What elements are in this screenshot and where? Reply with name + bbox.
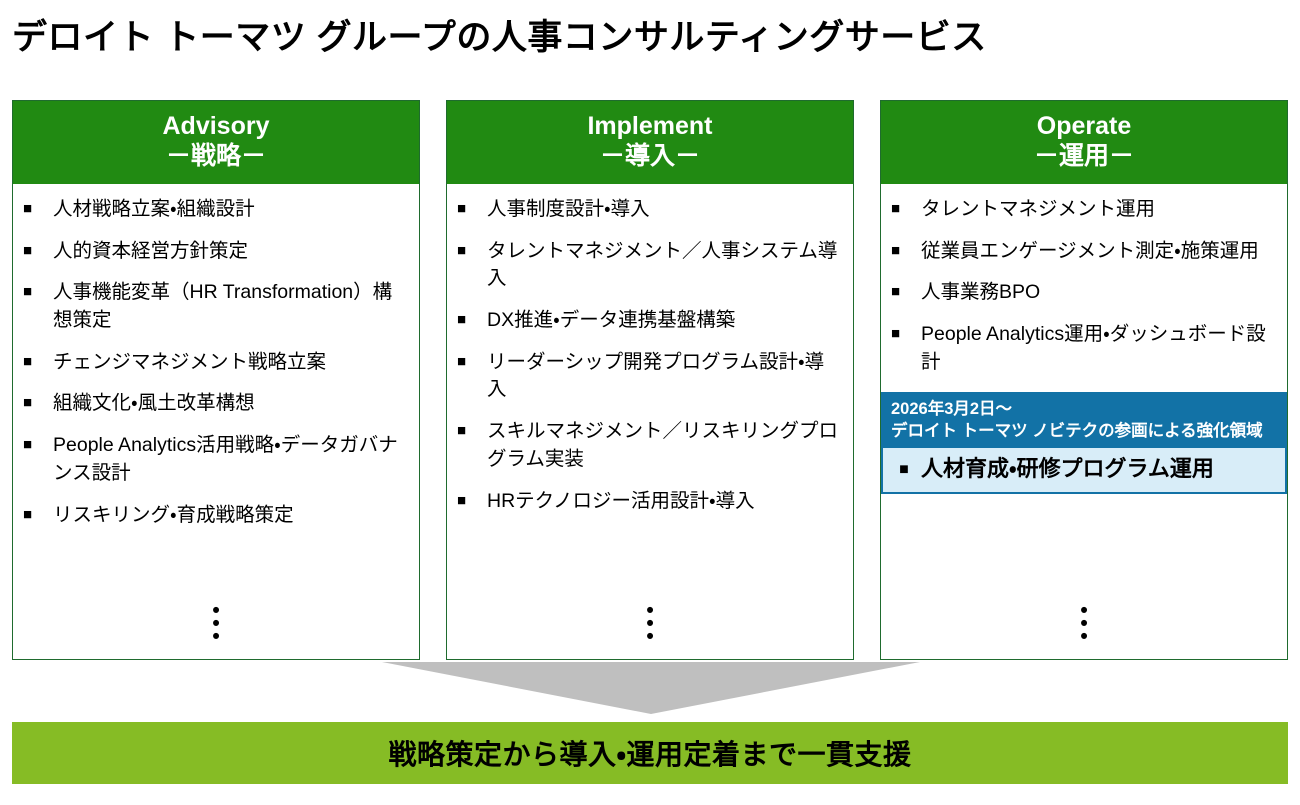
bullet-square-icon: ■ — [457, 238, 487, 264]
list-item: ■ People Analytics運用・ダッシュボード設計 — [891, 321, 1277, 376]
page-title: デロイト トーマツ グループの人事コンサルティングサービス — [12, 16, 1282, 60]
list-item: ■ 人事業務BPO — [891, 279, 1277, 307]
column-header-operate: Operate －運用－ — [881, 101, 1287, 184]
bullet-square-icon: ■ — [891, 279, 921, 305]
list-item-label: 人的資本経営方針策定 — [53, 238, 409, 266]
bullet-square-icon: ■ — [457, 349, 487, 375]
list-item: ■ DX推進・データ連携基盤構築 — [457, 307, 843, 335]
column-header-en: Advisory — [17, 112, 415, 142]
list-item-label: 人事制度設計・導入 — [487, 196, 843, 224]
list-item-label: People Analytics活用戦略・データガバナンス設計 — [53, 432, 409, 487]
list-item: ■ スキルマネジメント／リスキリングプログラム実装 — [457, 418, 843, 473]
column-advisory: Advisory －戦略－ ■ 人材戦略立案・組織設計 ■ 人的資本経営方針策定… — [12, 100, 420, 660]
list-item-label: 人事業務BPO — [921, 279, 1277, 307]
callout-item-label: 人材育成・研修プログラム運用 — [921, 455, 1214, 484]
down-arrow-icon — [382, 662, 920, 714]
column-header-ja: －戦略－ — [17, 142, 415, 172]
bullet-square-icon: ■ — [891, 238, 921, 264]
column-body-implement: ■ 人事制度設計・導入 ■ タレントマネジメント／人事システム導入 ■ DX推進… — [447, 184, 853, 659]
bullet-square-icon: ■ — [457, 488, 487, 514]
column-operate: Operate －運用－ ■ タレントマネジメント運用 ■ 従業員エンゲージメン… — [880, 100, 1288, 660]
bullet-square-icon: ■ — [23, 238, 53, 264]
column-header-ja: －運用－ — [885, 142, 1283, 172]
callout-body: ■ 人材育成・研修プログラム運用 — [883, 448, 1285, 492]
list-item: ■ タレントマネジメント／人事システム導入 — [457, 238, 843, 293]
column-header-en: Implement — [451, 112, 849, 142]
column-body-operate: ■ タレントマネジメント運用 ■ 従業員エンゲージメント測定・施策運用 ■ 人事… — [881, 184, 1287, 659]
callout-subtitle: デロイト トーマツ ノビテクの参画による強化領域 — [891, 421, 1277, 442]
bullet-square-icon: ■ — [23, 196, 53, 222]
callout-date: 2026年3月2日～ — [891, 399, 1277, 420]
bullet-square-icon: ■ — [891, 196, 921, 222]
list-item-label: 人事機能変革（HR Transformation）構想策定 — [53, 279, 409, 334]
list-item: ■ 人事機能変革（HR Transformation）構想策定 — [23, 279, 409, 334]
bullet-square-icon: ■ — [457, 307, 487, 333]
list-item-label: HRテクノロジー活用設計・導入 — [487, 488, 843, 516]
list-item-label: リーダーシップ開発プログラム設計・導入 — [487, 349, 843, 404]
list-item: ■ 人的資本経営方針策定 — [23, 238, 409, 266]
list-item: ■ リスキリング・育成戦略策定 — [23, 502, 409, 530]
vertical-ellipsis-icon: • • • — [23, 604, 409, 659]
column-header-implement: Implement －導入－ — [447, 101, 853, 184]
bullet-square-icon: ■ — [23, 390, 53, 416]
list-item-label: 従業員エンゲージメント測定・施策運用 — [921, 238, 1277, 266]
bullet-square-icon: ■ — [23, 349, 53, 375]
column-header-en: Operate — [885, 112, 1283, 142]
list-item: ■ リーダーシップ開発プログラム設計・導入 — [457, 349, 843, 404]
list-item-label: People Analytics運用・ダッシュボード設計 — [921, 321, 1277, 376]
footer-banner-label: 戦略策定から導入・運用定着まで一貫支援 — [388, 733, 911, 773]
highlight-callout: 2026年3月2日～ デロイト トーマツ ノビテクの参画による強化領域 ■ 人材… — [881, 392, 1287, 493]
bullet-square-icon: ■ — [891, 321, 921, 347]
column-header-advisory: Advisory －戦略－ — [13, 101, 419, 184]
list-item-label: チェンジマネジメント戦略立案 — [53, 349, 409, 377]
list-item: ■ 人事制度設計・導入 — [457, 196, 843, 224]
footer-banner: 戦略策定から導入・運用定着まで一貫支援 — [12, 722, 1288, 784]
list-item: ■ 組織文化・風土改革構想 — [23, 390, 409, 418]
list-item-label: スキルマネジメント／リスキリングプログラム実装 — [487, 418, 843, 473]
column-implement: Implement －導入－ ■ 人事制度設計・導入 ■ タレントマネジメント／… — [446, 100, 854, 660]
list-item-label: 組織文化・風土改革構想 — [53, 390, 409, 418]
list-item: ■ 人材戦略立案・組織設計 — [23, 196, 409, 224]
bullet-square-icon: ■ — [457, 196, 487, 222]
list-item: ■ チェンジマネジメント戦略立案 — [23, 349, 409, 377]
list-item-label: リスキリング・育成戦略策定 — [53, 502, 409, 530]
bullet-square-icon: ■ — [23, 279, 53, 305]
service-columns: Advisory －戦略－ ■ 人材戦略立案・組織設計 ■ 人的資本経営方針策定… — [12, 100, 1288, 660]
list-item-label: タレントマネジメント運用 — [921, 196, 1277, 224]
bullet-square-icon: ■ — [23, 432, 53, 458]
bullet-square-icon: ■ — [457, 418, 487, 444]
column-body-advisory: ■ 人材戦略立案・組織設計 ■ 人的資本経営方針策定 ■ 人事機能変革（HR T… — [13, 184, 419, 659]
list-item: ■ HRテクノロジー活用設計・導入 — [457, 488, 843, 516]
list-item-label: タレントマネジメント／人事システム導入 — [487, 238, 843, 293]
list-item: ■ People Analytics活用戦略・データガバナンス設計 — [23, 432, 409, 487]
vertical-ellipsis-icon: • • • — [457, 604, 843, 659]
list-item: ■ 従業員エンゲージメント測定・施策運用 — [891, 238, 1277, 266]
bullet-square-icon: ■ — [887, 460, 921, 479]
list-item-label: DX推進・データ連携基盤構築 — [487, 307, 843, 335]
vertical-ellipsis-icon: • • • — [891, 604, 1277, 659]
callout-header: 2026年3月2日～ デロイト トーマツ ノビテクの参画による強化領域 — [883, 394, 1285, 448]
column-header-ja: －導入－ — [451, 142, 849, 172]
list-item: ■ タレントマネジメント運用 — [891, 196, 1277, 224]
bullet-square-icon: ■ — [23, 502, 53, 528]
list-item-label: 人材戦略立案・組織設計 — [53, 196, 409, 224]
